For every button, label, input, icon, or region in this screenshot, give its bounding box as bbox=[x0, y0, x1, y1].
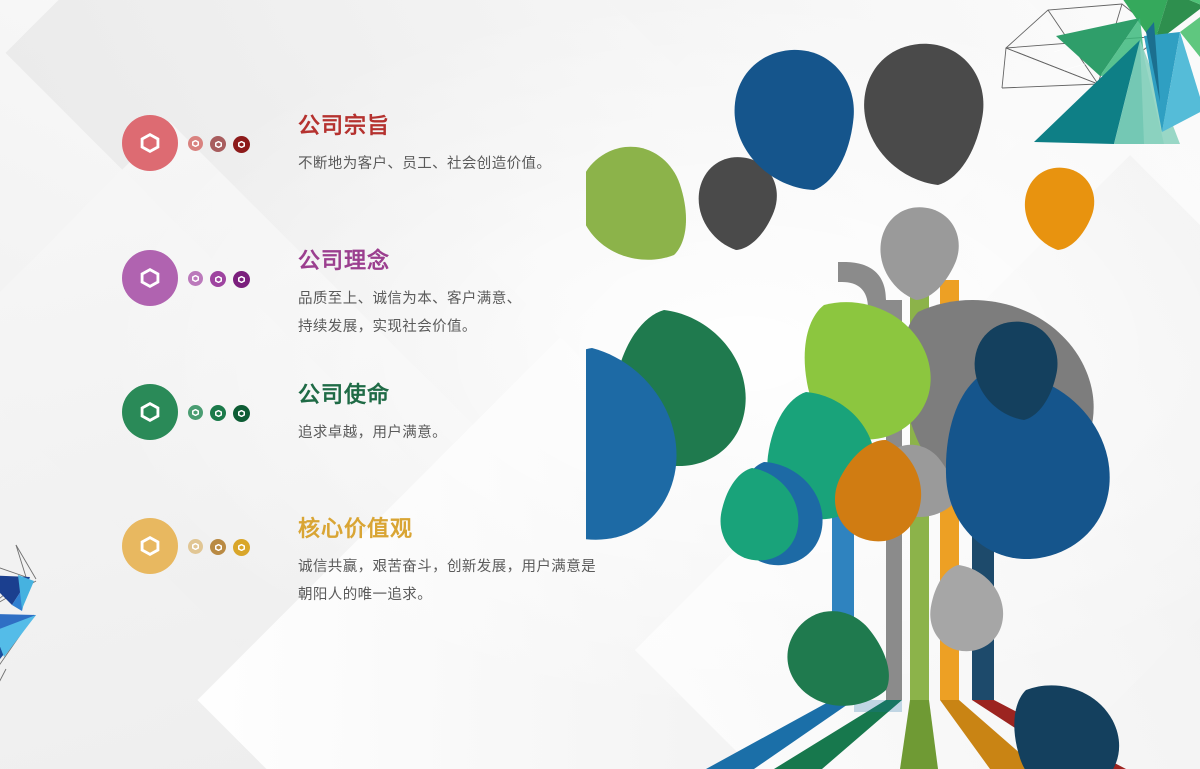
text-block-purpose: 公司宗旨 不断地为客户、员工、社会创造价值。 bbox=[252, 115, 551, 178]
culture-list: 公司宗旨 不断地为客户、员工、社会创造价值。 bbox=[0, 0, 660, 769]
hexagon-icon bbox=[140, 402, 160, 422]
item-title-philosophy: 公司理念 bbox=[298, 250, 522, 272]
item-title-core-values: 核心价值观 bbox=[298, 518, 596, 540]
text-block-mission: 公司使命 追求卓越，用户满意。 bbox=[252, 384, 447, 447]
badge-group-core-values bbox=[122, 518, 252, 576]
hexagon-icon bbox=[215, 410, 222, 417]
hexagon-icon bbox=[192, 409, 199, 416]
list-item-philosophy[interactable]: 公司理念 品质至上、诚信为本、客户满意、 持续发展，实现社会价值。 bbox=[122, 250, 522, 342]
badge-dot-3-mission[interactable] bbox=[233, 405, 250, 422]
list-item-mission[interactable]: 公司使命 追求卓越，用户满意。 bbox=[122, 384, 447, 447]
hexagon-icon bbox=[192, 140, 199, 147]
badge-main-core-values[interactable] bbox=[122, 518, 178, 574]
badge-dot-3-core-values[interactable] bbox=[233, 539, 250, 556]
badge-main-purpose[interactable] bbox=[122, 115, 178, 171]
badge-dot-2-mission[interactable] bbox=[210, 405, 226, 421]
badge-group-philosophy bbox=[122, 250, 252, 308]
item-title-mission: 公司使命 bbox=[298, 384, 447, 406]
hexagon-icon bbox=[215, 141, 222, 148]
list-item-core-values[interactable]: 核心价值观 诚信共赢，艰苦奋斗，创新发展，用户满意是 朝阳人的唯一追求。 bbox=[122, 518, 596, 610]
badge-dot-2-purpose[interactable] bbox=[210, 136, 226, 152]
badge-dot-1-purpose[interactable] bbox=[188, 136, 203, 151]
hexagon-icon bbox=[192, 275, 199, 282]
badge-dot-3-purpose[interactable] bbox=[233, 136, 250, 153]
badge-group-mission bbox=[122, 384, 252, 442]
text-block-core-values: 核心价值观 诚信共赢，艰苦奋斗，创新发展，用户满意是 朝阳人的唯一追求。 bbox=[252, 518, 596, 610]
text-block-philosophy: 公司理念 品质至上、诚信为本、客户满意、 持续发展，实现社会价值。 bbox=[252, 250, 522, 342]
hexagon-icon bbox=[238, 544, 245, 551]
hexagon-icon bbox=[140, 268, 160, 288]
badge-main-mission[interactable] bbox=[122, 384, 178, 440]
badge-main-philosophy[interactable] bbox=[122, 250, 178, 306]
list-item-purpose[interactable]: 公司宗旨 不断地为客户、员工、社会创造价值。 bbox=[122, 115, 551, 178]
item-desc-mission: 追求卓越，用户满意。 bbox=[298, 419, 447, 447]
badge-dot-1-core-values[interactable] bbox=[188, 539, 203, 554]
badge-dot-2-core-values[interactable] bbox=[210, 539, 226, 555]
hexagon-icon bbox=[192, 543, 199, 550]
badge-dot-3-philosophy[interactable] bbox=[233, 271, 250, 288]
hexagon-icon bbox=[238, 276, 245, 283]
hexagon-icon bbox=[215, 276, 222, 283]
item-desc-core-values: 诚信共赢，艰苦奋斗，创新发展，用户满意是 朝阳人的唯一追求。 bbox=[298, 553, 596, 610]
hexagon-icon bbox=[238, 410, 245, 417]
item-desc-purpose: 不断地为客户、员工、社会创造价值。 bbox=[298, 150, 551, 178]
item-title-purpose: 公司宗旨 bbox=[298, 115, 551, 137]
badge-dot-1-philosophy[interactable] bbox=[188, 271, 203, 286]
item-desc-philosophy: 品质至上、诚信为本、客户满意、 持续发展，实现社会价值。 bbox=[298, 285, 522, 342]
badge-dot-1-mission[interactable] bbox=[188, 405, 203, 420]
hexagon-icon bbox=[140, 536, 160, 556]
low-poly-triangles-green-teal bbox=[994, 0, 1200, 182]
hexagon-icon bbox=[238, 141, 245, 148]
slide-canvas: 公司宗旨 不断地为客户、员工、社会创造价值。 bbox=[0, 0, 1200, 769]
badge-dot-2-philosophy[interactable] bbox=[210, 271, 226, 287]
hexagon-icon bbox=[215, 544, 222, 551]
hexagon-icon bbox=[140, 133, 160, 153]
badge-group-purpose bbox=[122, 115, 252, 173]
